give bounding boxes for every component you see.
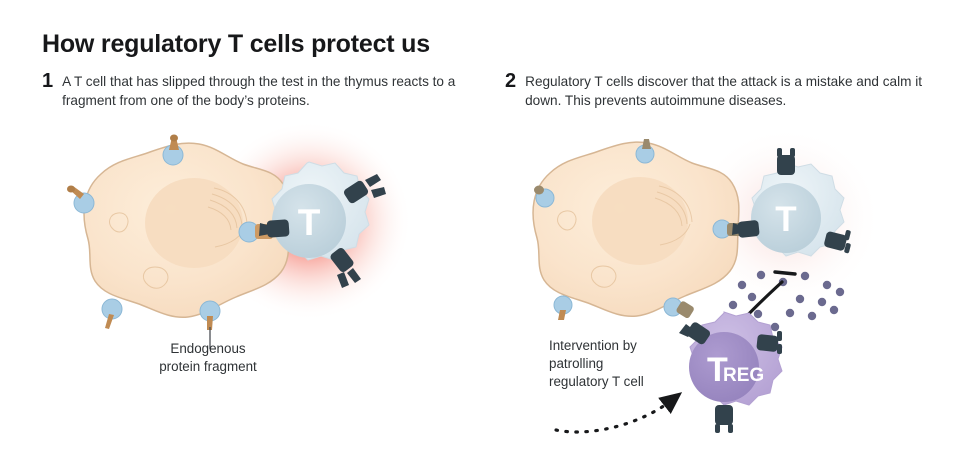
treg-tcr-bottom (715, 405, 733, 433)
caption-line: Endogenous (118, 340, 298, 358)
illustration-layer: T (0, 0, 969, 468)
inhibition-bar (775, 272, 795, 274)
caption-pointer-arrow (556, 400, 672, 432)
caption-intervention: Intervention bypatrollingregulatory T ce… (549, 337, 729, 391)
cell-nucleus (145, 178, 243, 268)
mhc-receptor-top (163, 135, 183, 166)
t-cell-label: T (298, 202, 321, 243)
caption-line: Intervention by (549, 337, 729, 355)
mhc-receptor-bottom-left (554, 296, 572, 320)
antigen-presenting-body-cell (533, 142, 739, 316)
caption-endogenous-protein-fragment: Endogenousprotein fragment (118, 340, 298, 376)
caption-line: regulatory T cell (549, 373, 729, 391)
autoreactive-t-cell[interactable]: T (272, 162, 369, 260)
cell-nucleus (592, 177, 688, 265)
mhc-receptor-bottom[interactable] (200, 301, 220, 330)
caption-line: protein fragment (118, 358, 298, 376)
mhc-receptor-bottom-left (102, 299, 122, 329)
treg-label-subscript: REG (723, 365, 764, 386)
panel-1-illustration: T (67, 121, 412, 349)
t-cell-label: T (775, 200, 796, 239)
caption-line: patrolling (549, 355, 729, 373)
mhc-receptor-engaged-treg (664, 298, 695, 319)
figure-canvas: How regulatory T cells protect us 1 A T … (0, 0, 969, 468)
